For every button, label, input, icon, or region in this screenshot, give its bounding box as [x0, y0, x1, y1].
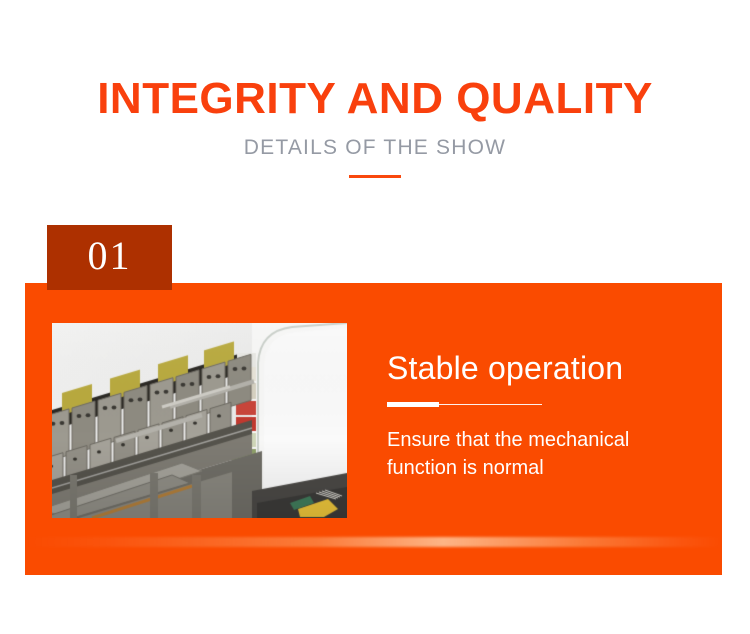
rule-thin-segment	[439, 404, 542, 406]
panel-glow-streak	[25, 537, 722, 547]
rule-thick-segment	[387, 402, 439, 407]
machine-photo-canvas	[52, 323, 347, 518]
page-subtitle: DETAILS OF THE SHOW	[0, 134, 750, 162]
horizontal-rule-icon	[349, 175, 401, 178]
step-number-label: 01	[47, 225, 172, 290]
step-number-badge: 01	[47, 225, 172, 290]
underline-rule-icon	[387, 402, 542, 408]
feature-text-block: Stable operation Ensure that the mechani…	[387, 348, 697, 482]
page-title: INTEGRITY AND QUALITY	[0, 72, 750, 126]
promo-page: INTEGRITY AND QUALITY DETAILS OF THE SHO…	[0, 0, 750, 634]
header-section: INTEGRITY AND QUALITY DETAILS OF THE SHO…	[0, 0, 750, 200]
feature-body-text: Ensure that the mechanical function is n…	[387, 426, 687, 482]
machine-photo	[52, 323, 347, 518]
feature-heading: Stable operation	[387, 348, 697, 388]
